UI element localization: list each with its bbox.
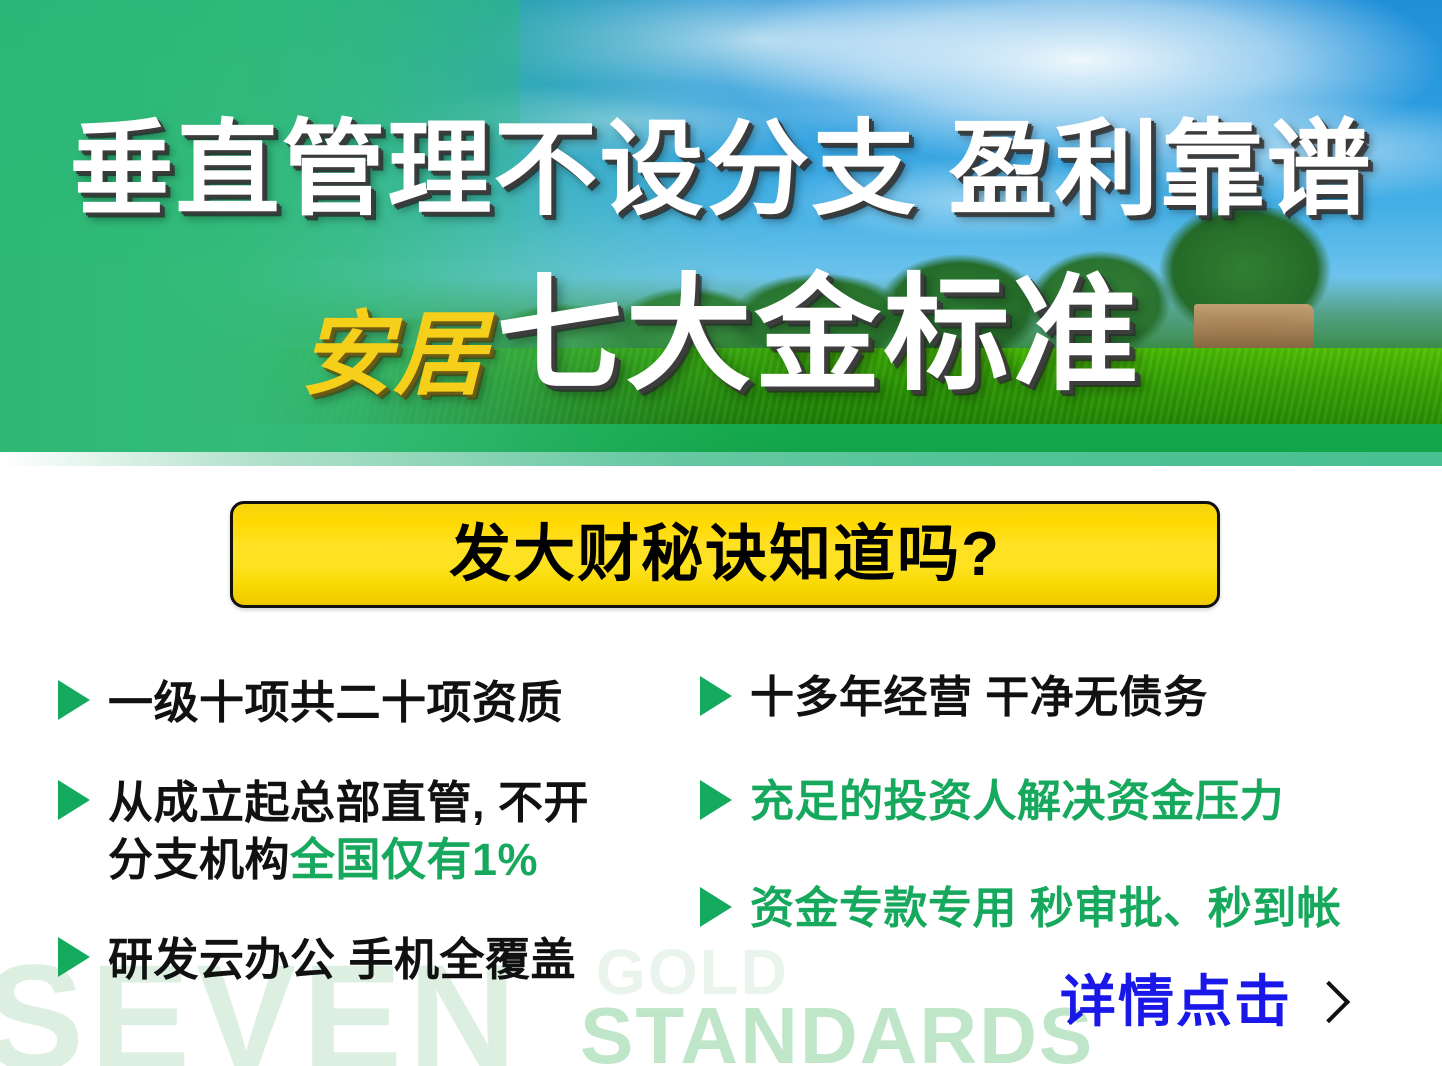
feature-line: 从成立起总部直管, 不开 [108,774,589,832]
triangle-right-icon [700,887,732,927]
feature-list: 一级十项共二十项资质 从成立起总部直管, 不开 分支机构全国仅有1% 研发云办公… [0,660,1442,1000]
feature-line: 充足的投资人解决资金压力 [750,777,1284,826]
feature-item: 一级十项共二十项资质 [58,674,698,732]
feature-line: 研发云办公 手机全覆盖 [108,934,576,985]
hero-divider-sliver [0,452,1442,466]
feature-line: 分支机构全国仅有1% [108,831,589,889]
chevron-right-icon [1308,981,1350,1023]
triangle-right-icon [700,780,732,820]
triangle-right-icon [58,780,90,820]
promo-poster: 垂直管理不设分支 盈利靠谱 安居七大金标准 SEVEN GOLD STANDAR… [0,0,1442,1066]
headline-callout-text: 发大财秘诀知道吗? [449,524,1001,586]
feature-line: 资金专款专用 秒审批、秒到帐 [750,884,1341,933]
feature-highlight: 全国仅有1% [290,834,538,885]
feature-item: 十多年经营 干净无债务 [700,670,1420,726]
headline-callout-banner: 发大财秘诀知道吗? [230,501,1220,608]
feature-item-text: 从成立起总部直管, 不开 分支机构全国仅有1% [108,774,589,889]
feature-item: 从成立起总部直管, 不开 分支机构全国仅有1% [58,774,698,889]
hero-banner: 垂直管理不设分支 盈利靠谱 安居七大金标准 [0,0,1442,452]
feature-column-left: 一级十项共二十项资质 从成立起总部直管, 不开 分支机构全国仅有1% 研发云办公… [58,660,698,1006]
feature-item: 资金专款专用 秒审批、秒到帐 [700,881,1420,937]
hero-headline-secondary: 安居七大金标准 [0,272,1442,401]
hero-headline-accent: 安居 [300,304,486,406]
feature-line: 一级十项共二十项资质 [108,677,563,728]
triangle-right-icon [700,676,732,716]
feature-item-text: 充足的投资人解决资金压力 [750,774,1284,830]
triangle-right-icon [58,937,90,977]
hero-headline-main: 七大金标准 [497,264,1142,405]
details-cta-button[interactable]: 详情点击 [1060,974,1344,1030]
feature-item-text: 一级十项共二十项资质 [108,674,563,732]
feature-item-text: 资金专款专用 秒审批、秒到帐 [750,881,1341,937]
feature-line-part: 分支机构 [108,834,290,885]
feature-item-text: 十多年经营 干净无债务 [750,670,1208,726]
feature-item: 研发云办公 手机全覆盖 [58,931,698,989]
feature-item: 充足的投资人解决资金压力 [700,774,1420,830]
hero-headline-primary: 垂直管理不设分支 盈利靠谱 [0,118,1442,222]
feature-column-right: 十多年经营 干净无债务 充足的投资人解决资金压力 资金专款专用 秒审批、秒到帐 [700,660,1420,955]
details-cta-label: 详情点击 [1060,974,1292,1030]
watermark-standards: STANDARDS [580,996,1094,1066]
feature-item-text: 研发云办公 手机全覆盖 [108,931,576,989]
feature-line: 十多年经营 干净无债务 [750,673,1208,722]
triangle-right-icon [58,680,90,720]
